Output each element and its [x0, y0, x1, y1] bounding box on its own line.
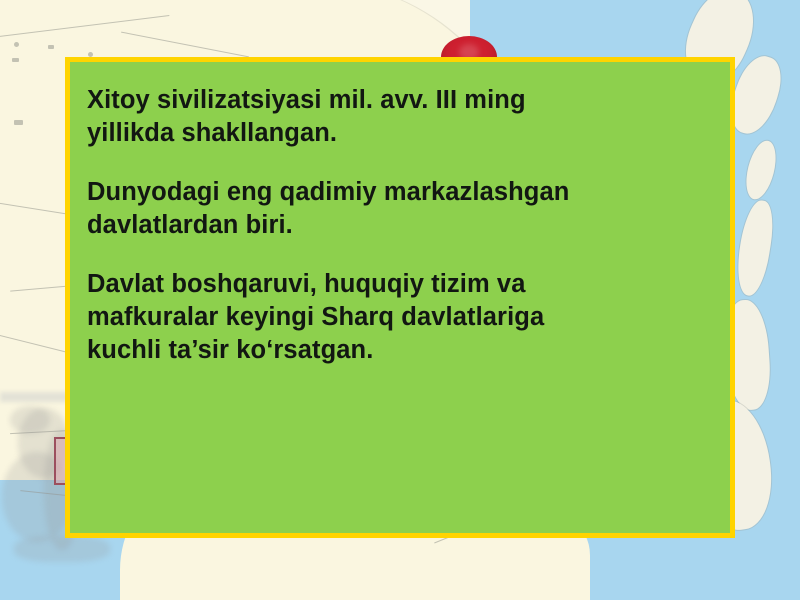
map-tick-mark — [48, 45, 54, 49]
content-text-card: Xitoy sivilizatsiyasi mil. avv. III ming… — [65, 57, 735, 538]
paragraph-1: Xitoy sivilizatsiyasi mil. avv. III ming… — [87, 84, 687, 150]
slide-canvas: Xitoy sivilizatsiyasi mil. avv. III ming… — [0, 0, 800, 600]
map-tick-mark — [12, 58, 19, 62]
paragraph-2: Dunyodagi eng qadimiy markazlashgan davl… — [87, 176, 687, 242]
map-tick-mark — [14, 42, 19, 47]
paragraph-3: Davlat boshqaruvi, huquqiy tizim va mafk… — [87, 268, 687, 367]
terrain-relief-blob — [14, 536, 110, 562]
map-tick-mark — [14, 120, 23, 125]
terrain-relief-blob — [10, 406, 50, 434]
